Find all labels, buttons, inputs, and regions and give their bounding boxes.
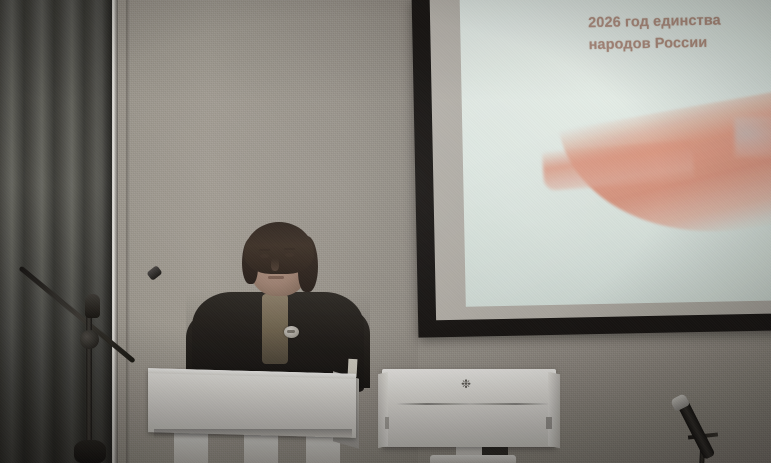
photo-vignette [0, 0, 771, 463]
presentation-photo: 2026 год единства народов России [0, 0, 771, 463]
